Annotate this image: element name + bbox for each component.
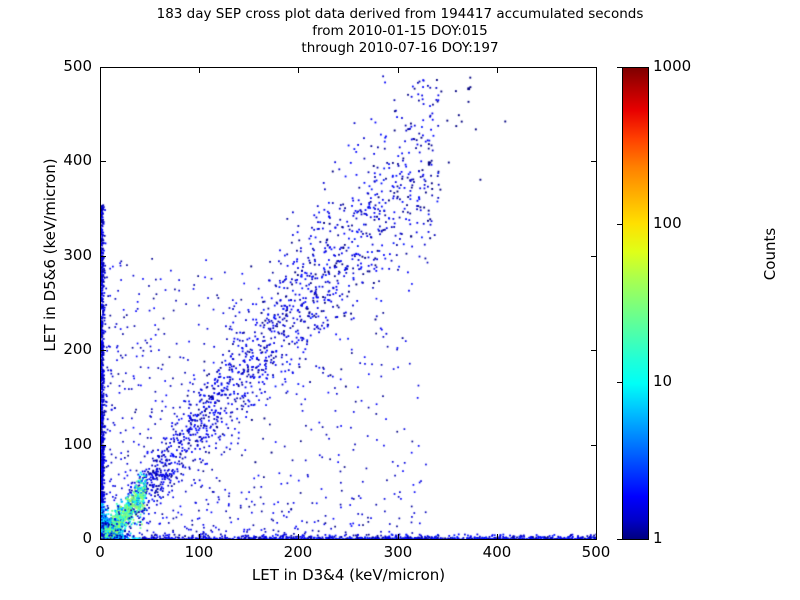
- colorbar-label-100: 100: [653, 214, 682, 232]
- x-tick-label-200: 200: [263, 543, 333, 561]
- x-tick-top-100: [199, 67, 200, 73]
- y-tick-100: [100, 445, 106, 446]
- y-axis-title: LET in D5&6 (keV/micron): [41, 45, 59, 465]
- x-tick-top-400: [497, 67, 498, 73]
- x-tick-200: [298, 534, 299, 540]
- x-tick-label-400: 400: [462, 543, 532, 561]
- scatter-density-plot: [101, 68, 597, 540]
- x-tick-label-100: 100: [164, 543, 234, 561]
- x-tick-top-500: [596, 67, 597, 73]
- x-tick-top-200: [298, 67, 299, 73]
- x-tick-label-0: 0: [65, 543, 135, 561]
- colorbar: 1000 100 10 1: [622, 67, 649, 540]
- y-tick-200: [100, 350, 106, 351]
- colorbar-tick-10: [617, 382, 622, 383]
- y-tick-400: [100, 161, 106, 162]
- x-axis-title: LET in D3&4 (keV/micron): [100, 566, 597, 584]
- colorbar-tick-100: [617, 224, 622, 225]
- y-tick-300: [100, 256, 106, 257]
- x-tick-top-300: [398, 67, 399, 73]
- x-tick-500: [596, 534, 597, 540]
- colorbar-tick-1: [617, 539, 622, 540]
- colorbar-label-1000: 1000: [653, 57, 691, 75]
- figure-title: 183 day SEP cross plot data derived from…: [0, 6, 800, 57]
- title-line-2: from 2010-01-15 DOY:015: [0, 23, 800, 40]
- x-tick-0: [100, 534, 101, 540]
- colorbar-title: Counts: [761, 44, 779, 464]
- plot-area: [100, 67, 597, 540]
- title-line-3: through 2010-07-16 DOY:197: [0, 40, 800, 57]
- colorbar-tick-1000: [617, 67, 622, 68]
- figure-canvas: 183 day SEP cross plot data derived from…: [0, 0, 800, 600]
- y-tick-right-200: [591, 350, 597, 351]
- x-tick-400: [497, 534, 498, 540]
- x-tick-top-0: [100, 67, 101, 73]
- x-tick-label-300: 300: [363, 543, 433, 561]
- y-tick-right-100: [591, 445, 597, 446]
- x-tick-label-500: 500: [561, 543, 631, 561]
- y-tick-right-400: [591, 161, 597, 162]
- x-tick-100: [199, 534, 200, 540]
- x-tick-300: [398, 534, 399, 540]
- y-tick-right-300: [591, 256, 597, 257]
- colorbar-gradient: [622, 67, 649, 540]
- title-line-1: 183 day SEP cross plot data derived from…: [0, 6, 800, 23]
- colorbar-label-10: 10: [653, 372, 672, 390]
- colorbar-label-1: 1: [653, 529, 663, 547]
